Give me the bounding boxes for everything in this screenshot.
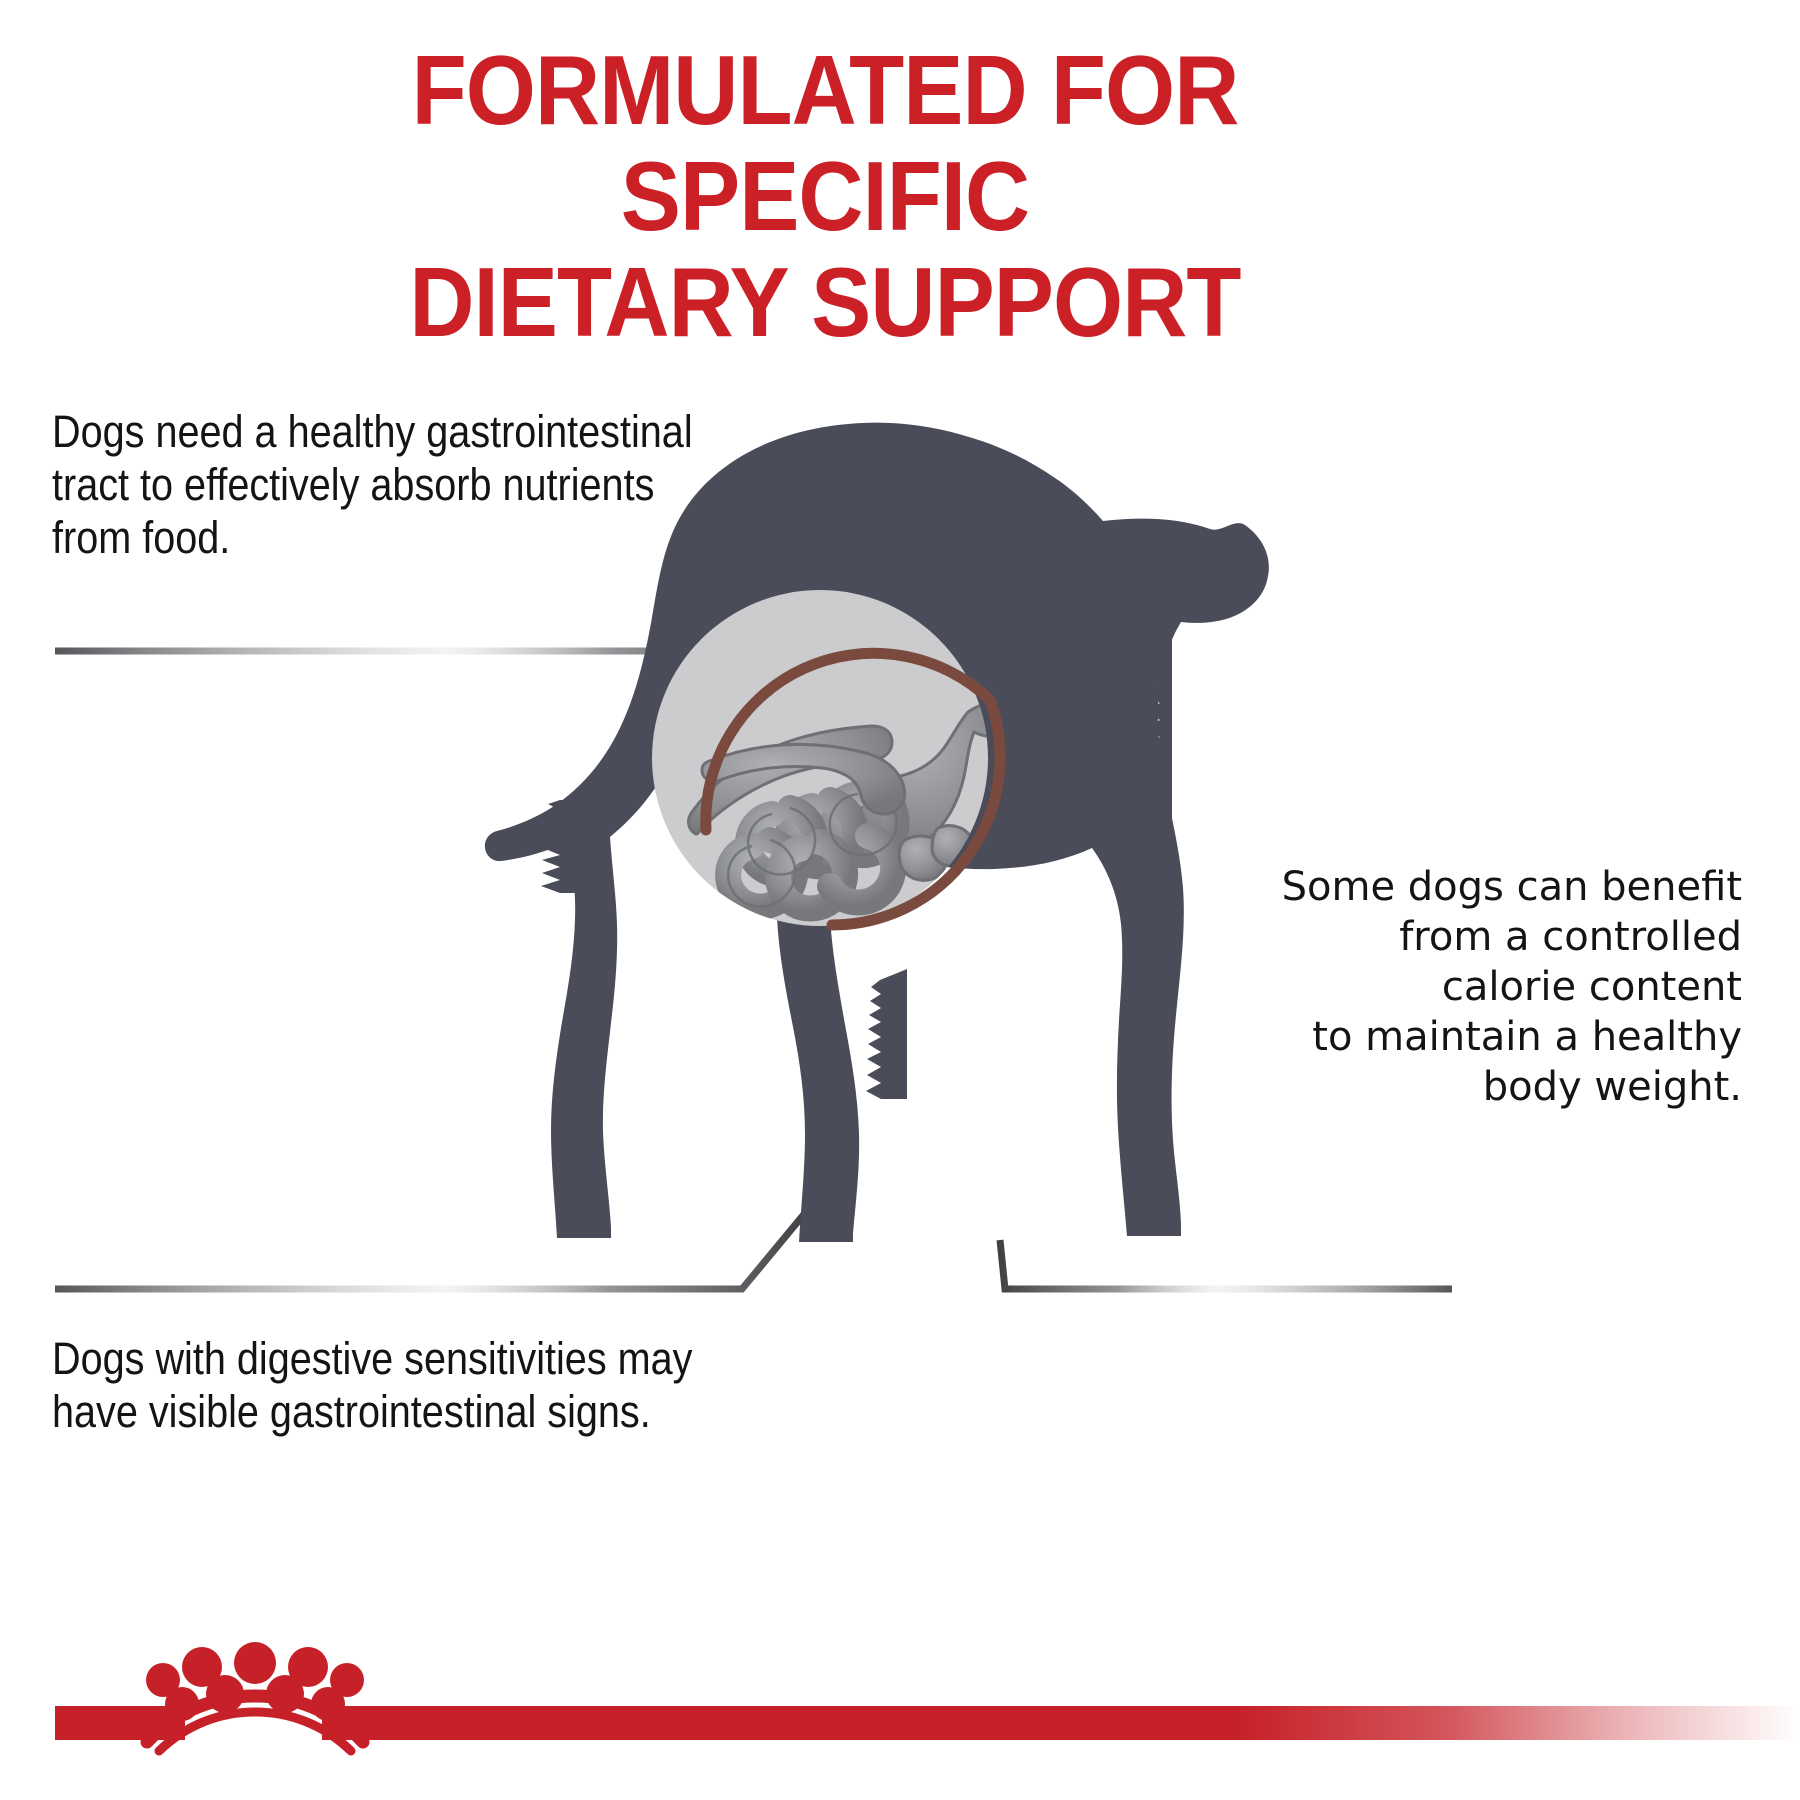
dog-tail-fur: [541, 800, 582, 893]
callout-right: Some dogs can benefit from a controlled …: [1182, 862, 1742, 1112]
connector-right: [1000, 1240, 1452, 1289]
organs-group: [689, 703, 1014, 908]
callout-bottom-left: Dogs with digestive sensitivities may ha…: [52, 1332, 774, 1438]
infographic-page: FORMULATED FOR SPECIFIC DIETARY SUPPORT: [0, 0, 1800, 1800]
royal-canin-crown-icon: [125, 1638, 385, 1756]
connector-top-left: [55, 651, 810, 727]
circle-outline-arc-top: [706, 653, 990, 830]
connector-bottom-left: [55, 1213, 805, 1289]
callout-top-left: Dogs need a healthy gastrointestinal tra…: [52, 405, 774, 564]
dog-chest-fur: [866, 969, 907, 1099]
gi-tract-circle: [652, 590, 1014, 926]
footer-bar-right-segment: [322, 1706, 1800, 1740]
page-title: FORMULATED FOR SPECIFIC DIETARY SUPPORT: [213, 38, 1437, 355]
circle-outline-arc-right: [832, 700, 1000, 925]
